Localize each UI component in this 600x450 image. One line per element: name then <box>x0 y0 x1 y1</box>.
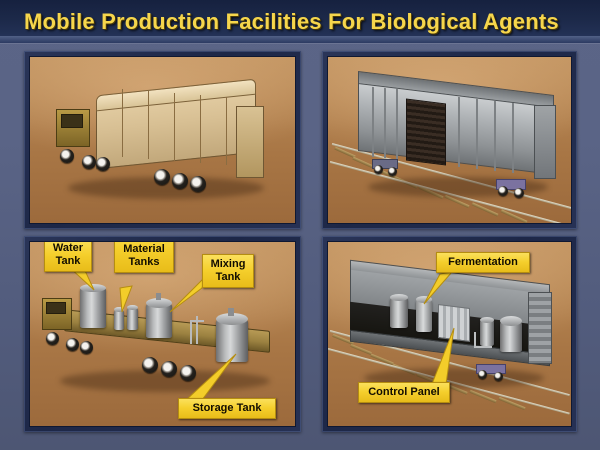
active-material-tank-top <box>114 307 124 312</box>
trailer-wheel <box>190 176 206 192</box>
pipe-run <box>190 320 204 322</box>
fermenter-tank-top <box>390 294 408 301</box>
title-bar: Mobile Production Facilities For Biologi… <box>0 0 600 43</box>
cab-window <box>46 302 66 314</box>
truck-wheel <box>66 338 79 351</box>
pipe-run <box>474 346 492 348</box>
page-title: Mobile Production Facilities For Biologi… <box>24 9 559 35</box>
boxcar-wheel <box>514 188 524 198</box>
boxcar-wheel <box>498 186 508 196</box>
truck-wheel <box>60 149 74 163</box>
truck-wheel <box>96 157 110 171</box>
boxcar-rib <box>372 87 374 157</box>
callout-control-panel[interactable]: Control Panel <box>358 382 450 403</box>
scene-railroad-boxcar-on-track <box>327 56 572 224</box>
boxcar-wheel <box>494 372 503 381</box>
canopy-rib <box>148 91 149 159</box>
boxcar-wheel <box>374 165 383 174</box>
storage-tank-body <box>216 320 248 362</box>
boxcar-rib <box>458 97 460 167</box>
fermenter-tank-body <box>390 298 408 328</box>
callout-storage-tank[interactable]: Storage Tank <box>178 398 276 419</box>
boxcar-wheel <box>478 370 487 379</box>
trailer-wheel <box>172 173 188 189</box>
fermenter-tank-body <box>480 320 494 346</box>
boxcar-rib <box>476 99 478 169</box>
boxcar-end-face <box>534 105 556 179</box>
canopy-rib <box>226 97 227 165</box>
fermenter-tank-top <box>480 317 494 323</box>
boxcar-rib <box>384 88 386 158</box>
canopy-rib <box>122 89 123 157</box>
boxcar-rib <box>512 103 514 173</box>
boxcar-end-face <box>528 292 552 364</box>
trailer-rear-face <box>236 106 264 178</box>
canopy-rib <box>200 95 201 163</box>
scene-boxcar-cutaway-with-tanks: Fermentation Control Panel <box>327 241 572 427</box>
active-material-tank-body <box>114 310 124 330</box>
mixing-tank-body <box>146 304 172 338</box>
mixing-tank-stack <box>156 293 161 300</box>
boxcar-wheel <box>388 167 397 176</box>
water-tank-body <box>80 288 106 328</box>
track-tie <box>352 157 373 169</box>
fermenter-tank-top <box>500 316 522 326</box>
panel-railcar-cutaway: Fermentation Control Panel <box>322 236 577 432</box>
active-material-tank-body <box>127 308 138 330</box>
trailer-wheel <box>142 357 158 373</box>
boxcar-rib <box>396 89 398 159</box>
active-material-tank-top <box>127 305 138 310</box>
canopy-rib <box>174 93 175 161</box>
truck-wheel <box>82 155 96 169</box>
trailer-wheel <box>161 361 177 377</box>
storage-tank-stack <box>228 308 234 316</box>
panel-truck-exterior <box>24 51 301 229</box>
fermenter-tank-body <box>500 322 522 352</box>
scene-semi-truck-with-covered-trailer <box>29 56 296 224</box>
cab-window <box>61 114 83 128</box>
water-tank-top <box>80 284 106 292</box>
scene-semi-trailer-cutaway-with-tanks: Water Tank Active Material Tanks Mixing … <box>29 241 296 427</box>
panel-railcar-exterior <box>322 51 577 229</box>
pipe-run <box>190 320 192 344</box>
callout-water-tank[interactable]: Water Tank <box>44 241 92 272</box>
track-tie <box>350 344 372 355</box>
slide-canvas: Mobile Production Facilities For Biologi… <box>0 0 600 450</box>
fermenter-tank-body <box>416 300 432 332</box>
truck-wheel <box>80 341 93 354</box>
panel-truck-cutaway: Water Tank Active Material Tanks Mixing … <box>24 236 301 432</box>
callout-fermentation[interactable]: Fermentation <box>436 252 530 273</box>
control-panel-cabinet <box>438 304 470 342</box>
callout-active-material-tanks[interactable]: Active Material Tanks <box>114 241 174 273</box>
truck-wheel <box>46 332 59 345</box>
fermenter-tank-top <box>416 296 432 303</box>
boxcar-rib <box>494 101 496 171</box>
callout-mixing-tank[interactable]: Mixing Tank <box>202 254 254 288</box>
trailer-wheel <box>180 365 196 381</box>
boxcar-door <box>406 99 446 166</box>
trailer-wheel <box>154 169 170 185</box>
